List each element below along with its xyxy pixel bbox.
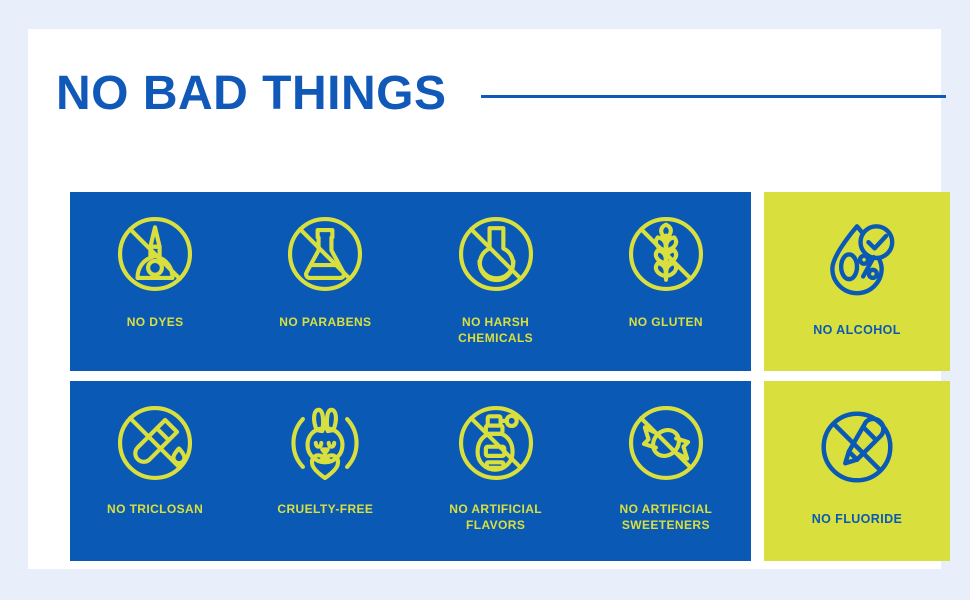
badge-panel-blue-1: NO DYES NO PARABENS xyxy=(70,192,751,371)
badge-label-line2: SWEETENERS xyxy=(622,518,710,532)
badge-cell-cruelty-free[interactable]: CRUELTY-FREE xyxy=(240,381,410,561)
badge-label-line2: CHEMICALS xyxy=(458,331,533,345)
badge-row-1: NO DYES NO PARABENS xyxy=(70,192,950,371)
no-artificial-sweeteners-candy-icon xyxy=(618,395,714,491)
badge-cell-no-artificial-sweeteners[interactable]: NO ARTIFICIAL SWEETENERS xyxy=(581,381,751,561)
no-gluten-wheat-icon xyxy=(618,206,714,302)
badge-label: NO DYES xyxy=(127,314,184,330)
badge-grid: NO DYES NO PARABENS xyxy=(70,192,950,571)
badge-label: NO ARTIFICIAL SWEETENERS xyxy=(620,501,713,533)
no-fluoride-dropper-icon xyxy=(807,397,907,497)
badge-panel-lime-1: NO ALCOHOL xyxy=(764,192,950,371)
no-alcohol-droplet-zero-percent-icon xyxy=(807,208,907,308)
badge-label-line1: NO HARSH xyxy=(462,315,529,329)
page-title: NO BAD THINGS xyxy=(56,70,447,118)
badge-label-line1: NO ARTIFICIAL xyxy=(620,502,713,516)
poster-card: NO BAD THINGS xyxy=(28,29,941,569)
badge-label: NO FLUORIDE xyxy=(812,511,903,528)
badge-label: NO ARTIFICIAL FLAVORS xyxy=(449,501,542,533)
cruelty-free-bunny-icon xyxy=(277,395,373,491)
badge-panel-blue-2: NO TRICLOSAN xyxy=(70,381,751,561)
poster-header: NO BAD THINGS xyxy=(56,59,946,129)
badge-cell-no-dyes[interactable]: NO DYES xyxy=(70,192,240,371)
badge-panel-lime-2: NO FLUORIDE xyxy=(764,381,950,561)
badge-cell-no-fluoride[interactable]: NO FLUORIDE xyxy=(764,381,950,561)
no-artificial-flavors-spray-bottle-icon xyxy=(448,395,544,491)
badge-cell-no-gluten[interactable]: NO GLUTEN xyxy=(581,192,751,371)
badge-row-2: NO TRICLOSAN xyxy=(70,381,950,561)
no-dyes-icon xyxy=(107,206,203,302)
badge-label: CRUELTY-FREE xyxy=(277,501,373,517)
badge-label: NO TRICLOSAN xyxy=(107,501,203,517)
badge-label: NO HARSH CHEMICALS xyxy=(458,314,533,346)
badge-cell-no-alcohol[interactable]: NO ALCOHOL xyxy=(764,192,950,371)
badge-label: NO ALCOHOL xyxy=(813,322,901,339)
badge-label: NO GLUTEN xyxy=(629,314,703,330)
badge-cell-no-harsh-chemicals[interactable]: NO HARSH CHEMICALS xyxy=(411,192,581,371)
badge-label-line1: NO ARTIFICIAL xyxy=(449,502,542,516)
poster-page: NO BAD THINGS xyxy=(0,0,970,600)
header-divider-rule xyxy=(481,95,947,98)
badge-label: NO PARABENS xyxy=(279,314,371,330)
no-harsh-chemicals-flask-icon xyxy=(448,206,544,302)
badge-cell-no-parabens[interactable]: NO PARABENS xyxy=(240,192,410,371)
no-triclosan-test-tube-icon xyxy=(107,395,203,491)
badge-cell-no-triclosan[interactable]: NO TRICLOSAN xyxy=(70,381,240,561)
badge-cell-no-artificial-flavors[interactable]: NO ARTIFICIAL FLAVORS xyxy=(411,381,581,561)
badge-label-line2: FLAVORS xyxy=(466,518,525,532)
no-parabens-flask-icon xyxy=(277,206,373,302)
